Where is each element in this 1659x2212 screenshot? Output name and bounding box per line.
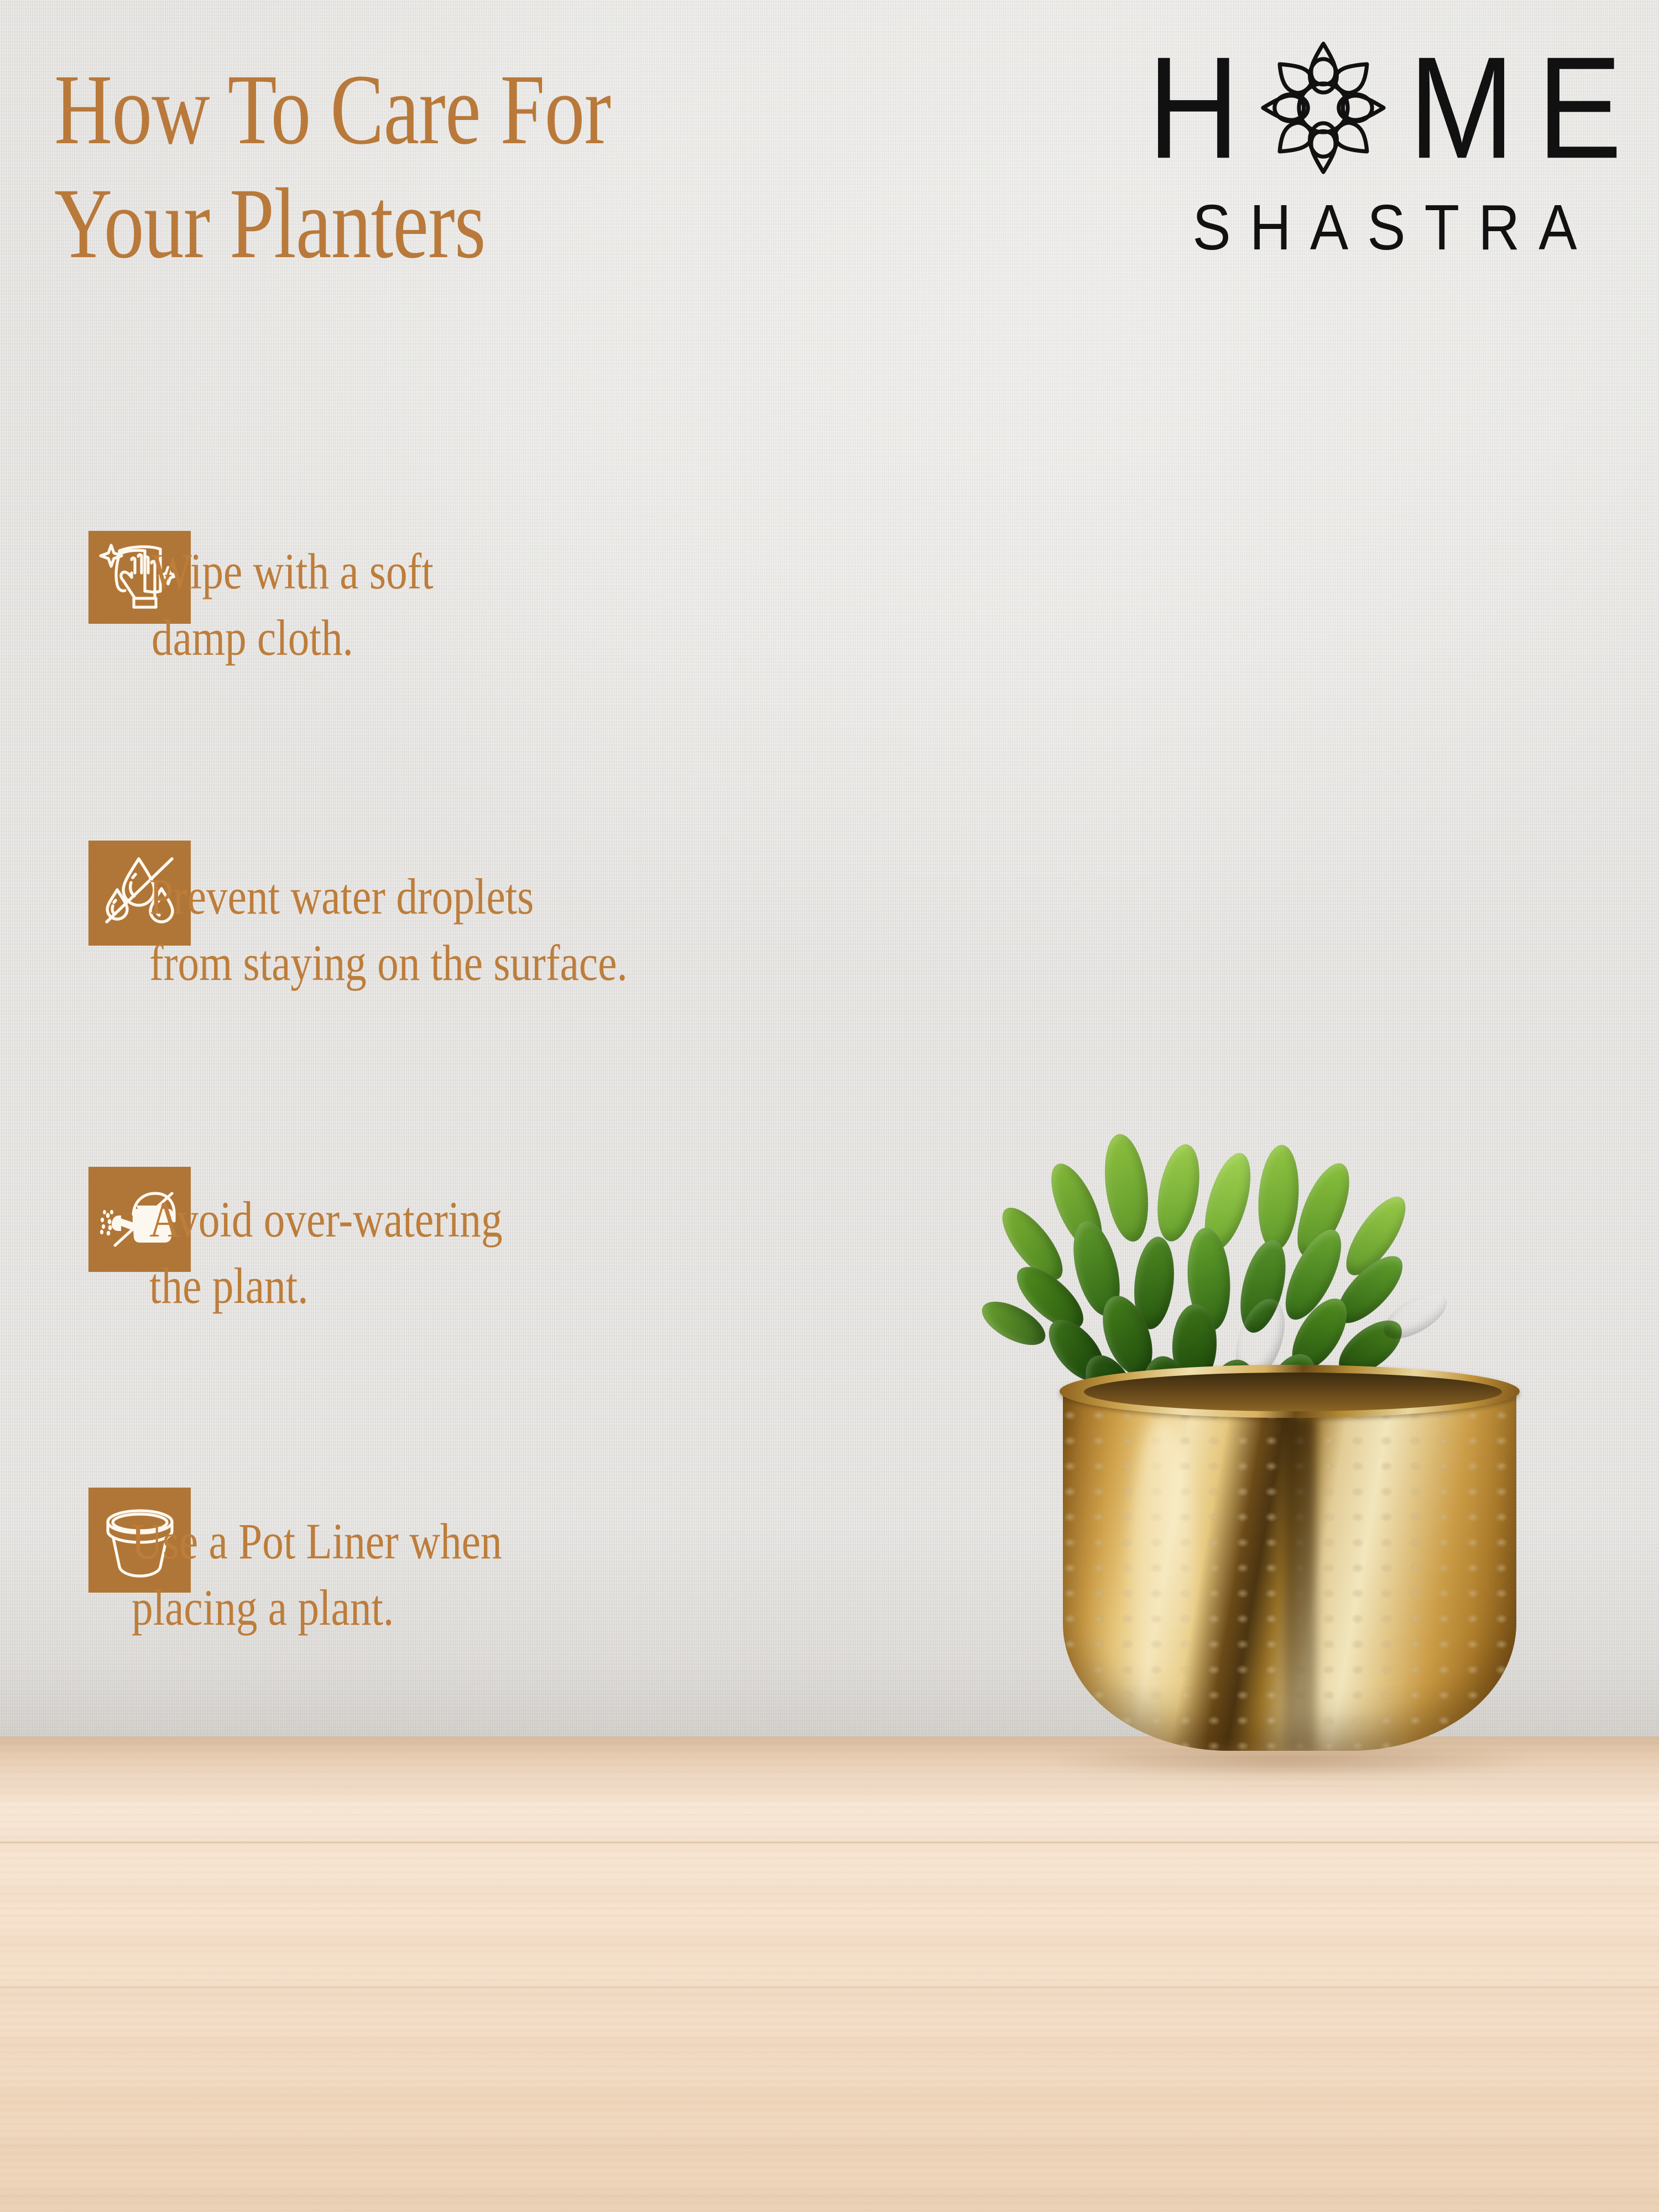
tip-text: Use a Pot Liner when placing a plant. (132, 1509, 502, 1641)
planter-interior (1084, 1373, 1502, 1411)
tip-text-line-2: from staying on the surface. (149, 930, 628, 997)
tip-text: Prevent water droplets from staying on t… (149, 864, 628, 996)
brass-planter (1063, 1365, 1516, 1752)
tip-text-line-2: the plant. (149, 1253, 503, 1319)
tip-text: Avoid over-watering the plant. (149, 1187, 503, 1319)
infographic-poster: How To Care For Your Planters H (0, 0, 1659, 2212)
tip-text-line-1: Prevent water droplets (149, 864, 628, 930)
tip-text-line-1: Use a Pot Liner when (132, 1509, 502, 1575)
planter-contact-shadow (1034, 1741, 1548, 1780)
leaf (1255, 1144, 1302, 1253)
tip-text-line-2: placing a plant. (132, 1575, 502, 1641)
tip-text-line-2: damp cloth. (152, 605, 434, 671)
tip-text-line-1: Wipe with a soft (152, 539, 434, 605)
tip-text-line-1: Avoid over-watering (149, 1187, 503, 1253)
planter-body (1063, 1384, 1516, 1751)
leaf (1151, 1141, 1206, 1244)
tip-text: Wipe with a soft damp cloth. (152, 539, 434, 671)
planter-reflection-dark (1284, 1417, 1316, 1751)
leaf (1099, 1131, 1155, 1244)
planter-highlight (1129, 1417, 1196, 1749)
planter-photo (940, 1128, 1659, 1913)
